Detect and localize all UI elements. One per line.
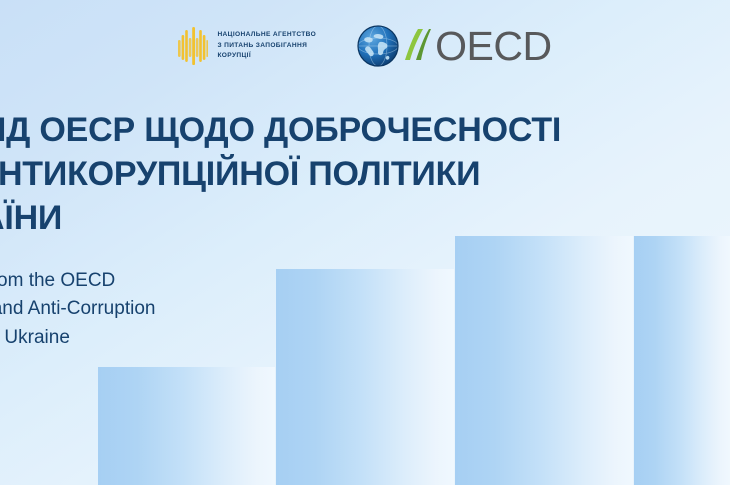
headline-line: КРАЇНИ <box>0 196 660 240</box>
title-text-block: ГЛЯД ОЕСР ЩОДО ДОБРОЧЕСНОСТІ А АНТИКОРУП… <box>0 108 660 353</box>
page-subtitle: ights from the OECD egrity and Anti-Corr… <box>0 267 660 354</box>
nazk-trident-mark-icon <box>178 27 208 65</box>
page-title: ГЛЯД ОЕСР ЩОДО ДОБРОЧЕСНОСТІ А АНТИКОРУП… <box>0 108 660 241</box>
chart-bar <box>98 367 275 485</box>
nazk-logo-line: НАЦІОНАЛЬНЕ АГЕНТСТВО <box>217 30 316 41</box>
subtitle-line: view of Ukraine <box>0 324 660 353</box>
subtitle-line: egrity and Anti-Corruption <box>0 295 660 324</box>
title-slide: НАЦІОНАЛЬНЕ АГЕНТСТВО З ПИТАНЬ ЗАПОБІГАН… <box>0 0 730 485</box>
nazk-logo-line: КОРУПЦІЇ <box>217 51 316 62</box>
oecd-logo: OECD <box>356 24 551 68</box>
nazk-logo: НАЦІОНАЛЬНЕ АГЕНТСТВО З ПИТАНЬ ЗАПОБІГАН… <box>178 27 316 65</box>
headline-line: А АНТИКОРУПЦІЙНОЇ ПОЛІТИКИ <box>0 152 660 196</box>
headline-line: ГЛЯД ОЕСР ЩОДО ДОБРОЧЕСНОСТІ <box>0 108 660 152</box>
nazk-logo-line: З ПИТАНЬ ЗАПОБІГАННЯ <box>217 41 316 52</box>
subtitle-line: ights from the OECD <box>0 267 660 296</box>
oecd-wordmark: OECD <box>435 26 551 67</box>
logo-row: НАЦІОНАЛЬНЕ АГЕНТСТВО З ПИТАНЬ ЗАПОБІГАН… <box>0 0 730 92</box>
globe-icon <box>356 24 400 68</box>
nazk-logo-text: НАЦІОНАЛЬНЕ АГЕНТСТВО З ПИТАНЬ ЗАПОБІГАН… <box>217 30 316 62</box>
oecd-swoosh-icon <box>401 26 431 66</box>
